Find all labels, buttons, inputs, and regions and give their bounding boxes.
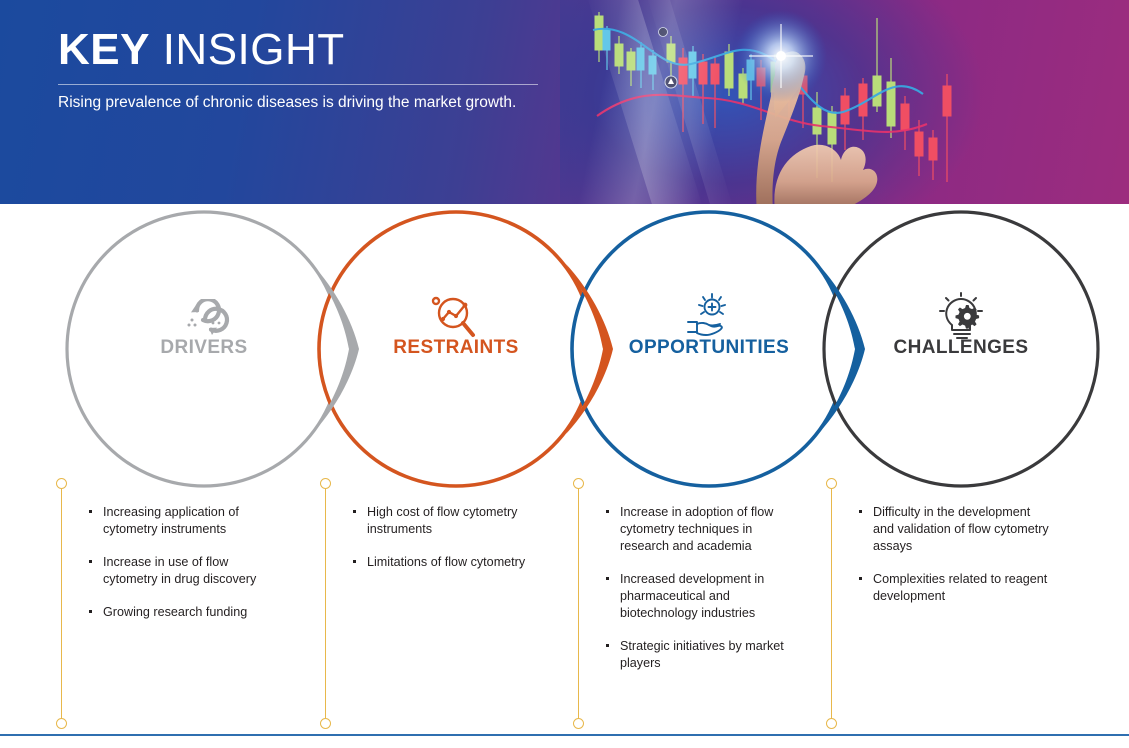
- title-divider: [58, 84, 538, 85]
- connector-dot-top-3: [573, 478, 584, 489]
- cycle-arrows-icon: [172, 299, 236, 341]
- connector-dot-bottom-3: [573, 718, 584, 729]
- connector-line-4: [831, 484, 832, 722]
- list-item: High cost of flow cytometry instruments: [350, 504, 542, 538]
- connector-dot-bottom-2: [320, 718, 331, 729]
- connector-dot-bottom-1: [56, 718, 67, 729]
- list-item: Increasing application of cytometry inst…: [86, 504, 276, 538]
- list-item: Increase in use of flow cytometry in dru…: [86, 554, 276, 588]
- connector-dot-top-2: [320, 478, 331, 489]
- list-item: Limitations of flow cytometry: [350, 554, 542, 571]
- bottom-divider: [0, 734, 1129, 736]
- connector-line-2: [325, 484, 326, 722]
- connector-line-1: [61, 484, 62, 722]
- pillar-label-challenges: CHALLENGES: [871, 337, 1051, 359]
- connector-dot-top-4: [826, 478, 837, 489]
- list-item: Increase in adoption of flow cytometry t…: [603, 504, 799, 555]
- bullet-list-challenges: Difficulty in the development and valida…: [856, 504, 1052, 621]
- lightbulb-gear-icon: [936, 292, 988, 342]
- header-banner: KEY INSIGHT Rising prevalence of chronic…: [0, 0, 1129, 204]
- page-title: KEY INSIGHT: [58, 28, 345, 72]
- pillars-stage: DRIVERS RESTRAINTS OPPORTUNITIES CHALLEN…: [0, 204, 1129, 748]
- connector-line-3: [578, 484, 579, 722]
- page-subtitle: Rising prevalence of chronic diseases is…: [58, 94, 516, 112]
- list-item: Growing research funding: [86, 604, 276, 621]
- bullet-list-restraints: High cost of flow cytometry instruments …: [350, 504, 542, 587]
- bullet-list-drivers: Increasing application of cytometry inst…: [86, 504, 276, 637]
- pillar-label-opportunities: OPPORTUNITIES: [599, 337, 819, 359]
- list-item: Difficulty in the development and valida…: [856, 504, 1052, 555]
- header-stock-chart-artwork: [575, 0, 1129, 204]
- pillar-label-restraints: RESTRAINTS: [366, 337, 546, 359]
- connector-dot-bottom-4: [826, 718, 837, 729]
- magnifier-chart-icon: [427, 292, 483, 342]
- page-title-bold: KEY: [58, 25, 150, 74]
- list-item: Complexities related to reagent developm…: [856, 571, 1052, 605]
- hand-holding-medical-plus-icon: [682, 292, 738, 342]
- pillar-label-drivers: DRIVERS: [124, 337, 284, 359]
- page-title-light: INSIGHT: [150, 25, 345, 74]
- list-item: Strategic initiatives by market players: [603, 638, 799, 672]
- bullet-list-opportunities: Increase in adoption of flow cytometry t…: [603, 504, 799, 688]
- connector-dot-top-1: [56, 478, 67, 489]
- list-item: Increased development in pharmaceutical …: [603, 571, 799, 622]
